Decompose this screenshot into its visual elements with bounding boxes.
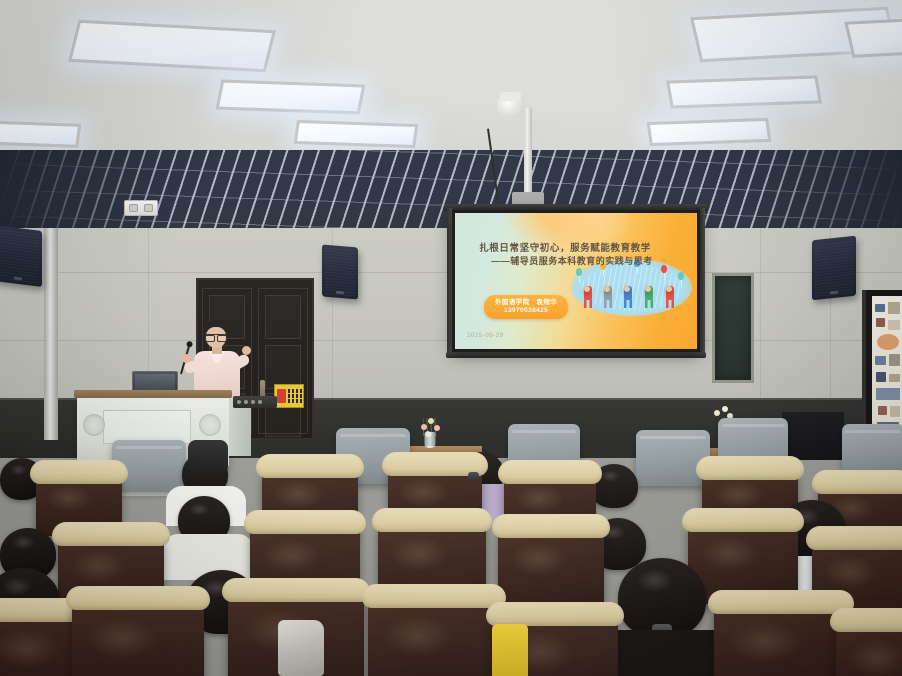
slide-badge-tel: 13970538425 <box>495 307 557 315</box>
slide-subtitle: ——辅导员服务本科教育的实践与思考 <box>491 254 653 267</box>
grille-shadow-right <box>752 150 902 232</box>
ceiling-light-4 <box>0 120 81 148</box>
ceiling-light-8 <box>844 18 902 58</box>
wall-column <box>44 228 58 440</box>
lectern-front-panel <box>103 410 191 444</box>
screen-border-right <box>700 208 705 356</box>
ceiling-light-7 <box>647 118 772 146</box>
lectern-control-panel[interactable] <box>233 396 277 408</box>
slide-title: 扎根日常坚守初心，服务赋能教育教学 <box>479 240 651 254</box>
screen-bottom-bar <box>446 352 706 358</box>
slide-presenter-badge: 外国语学院 袁翔华 13970538425 <box>484 295 568 319</box>
seat-r1-6[interactable] <box>714 600 848 676</box>
balloon-5 <box>678 272 684 280</box>
presenter-hand-right <box>242 346 251 355</box>
ceiling-light-3 <box>294 120 419 148</box>
ceiling-light-2 <box>216 79 366 114</box>
slide-illustration <box>571 259 692 316</box>
projector-mount-pole <box>524 108 532 203</box>
slide-badge-org: 外国语学院 袁翔华 <box>495 299 557 307</box>
seat-r1-4[interactable] <box>368 594 500 676</box>
plastic-bag <box>278 620 324 676</box>
fire-extinguisher-icon <box>277 389 286 403</box>
illustration-figure-3 <box>624 286 632 308</box>
lectern-speaker-right <box>199 414 221 436</box>
eyeglasses-icon <box>205 334 227 339</box>
illustration-figure-4 <box>645 286 653 308</box>
wall-speaker-left-far <box>0 225 42 287</box>
seat-r2-4[interactable] <box>498 524 604 608</box>
wall-speaker-left <box>322 244 358 299</box>
slide-date: 2025-09-29 <box>467 333 504 339</box>
fire-extinguisher-sign <box>274 384 304 408</box>
projection-screen: 扎根日常坚守初心，服务赋能教育教学 ——辅导员服务本科教育的实践与思考 外国语学… <box>452 210 700 352</box>
camera-bag <box>188 440 228 474</box>
seat-r1-2[interactable] <box>72 596 204 676</box>
ceiling-light-6 <box>666 75 822 108</box>
balloon-4 <box>661 265 667 273</box>
illustration-figure-2 <box>604 286 612 308</box>
lecture-hall-photo: EPSON <box>0 0 902 676</box>
grille-shadow-left <box>0 150 180 232</box>
lectern-top-surface <box>74 390 232 398</box>
balloon-1 <box>576 268 582 276</box>
wall-speaker-right <box>812 236 856 301</box>
flower-vase-center <box>418 414 442 448</box>
emergency-exit-light <box>124 200 158 216</box>
lectern-speaker-left <box>83 414 105 436</box>
seat-r1-7[interactable] <box>836 618 902 676</box>
yellow-item <box>492 624 528 676</box>
presenter-hand-left <box>182 354 191 363</box>
wall-blackboard <box>712 273 754 383</box>
illustration-figure-1 <box>584 286 592 308</box>
hair-clip-1 <box>468 472 479 480</box>
notice-board <box>872 296 902 442</box>
presentation-slide: 扎根日常坚守初心，服务赋能教育教学 ——辅导员服务本科教育的实践与思考 外国语学… <box>455 213 697 349</box>
illustration-figure-5 <box>666 286 674 308</box>
black-low-cabinet <box>782 412 844 460</box>
